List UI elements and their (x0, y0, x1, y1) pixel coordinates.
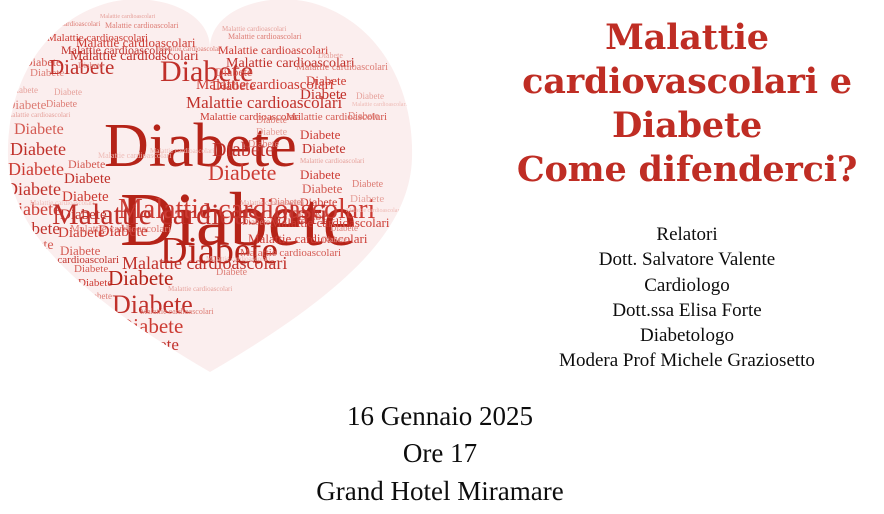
wordcloud-word: Diabete (74, 264, 108, 275)
wordcloud-word: Malattie cardioascolari (186, 94, 342, 111)
wordcloud-word: Diabete (60, 244, 100, 257)
wordcloud-word: Diabete (350, 194, 384, 205)
wordcloud-word: Malattie cardioascolari (196, 78, 334, 93)
wordcloud-word: Malattie cardioascolari (105, 22, 179, 30)
wordcloud-word: Diabete (78, 62, 103, 70)
wordcloud-word: Diabete (256, 116, 287, 126)
event-poster: DiabeteDiabeteMalattie cardioascolariMal… (0, 0, 884, 514)
poster-title: Malattie cardiovascolari e Diabete Come … (490, 16, 884, 192)
title-line-3: Diabete (490, 104, 884, 148)
wordcloud-word: Diabete (302, 143, 346, 157)
speaker-role-1: Cardiologo (490, 273, 884, 298)
event-details: 16 Gennaio 2025 Ore 17 Grand Hotel Miram… (160, 398, 720, 510)
wordcloud-word: Diabete (300, 128, 340, 141)
title-line-2: cardiovascolari e (490, 60, 884, 104)
wordcloud-word: Diabete (330, 224, 358, 233)
wordcloud-word: Malattie cardioascolari (346, 208, 401, 214)
event-venue: Grand Hotel Miramare (160, 473, 720, 510)
event-time: Ore 17 (160, 435, 720, 472)
wordcloud-word: Diabete (64, 172, 111, 187)
wordcloud-word: Diabete (242, 218, 270, 227)
wordcloud-word: Diabete (212, 140, 274, 160)
speaker-name-1: Dott. Salvatore Valente (490, 247, 884, 272)
title-line-1: Malattie (490, 16, 884, 60)
wordcloud-word: Malattie cardioascolari (100, 14, 155, 20)
wordcloud-word: Diabete (14, 122, 64, 138)
speaker-name-2: Dott.ssa Elisa Forte (490, 298, 884, 323)
wordcloud-word: Malattie cardioascolari (6, 112, 70, 119)
speakers-list: Relatori Dott. Salvatore Valente Cardiol… (490, 222, 884, 374)
wordcloud-word: Diabete (108, 268, 173, 289)
title-line-4: Come difenderci? (490, 148, 884, 192)
wordcloud-word: Diabete (98, 224, 148, 240)
wordcloud-word: Diabete (318, 52, 343, 60)
wordcloud-word: Diabete (322, 236, 347, 244)
wordcloud-word: Diabete (54, 88, 82, 97)
wordcloud-word: Diabete (348, 112, 379, 122)
wordcloud-word: Malattie cardioascolari (248, 232, 367, 245)
wordcloud-word: Diabete (216, 268, 247, 278)
wordcloud-word: Malattie cardioascolari (158, 46, 222, 53)
wordcloud-word: Diabete (356, 92, 384, 101)
wordcloud-word: Malattie cardioascolari (228, 33, 302, 41)
speakers-heading: Relatori (490, 222, 884, 247)
wordcloud-word: Malattie cardioascolari (352, 102, 407, 108)
wordcloud-word: Malattie cardioascolari (218, 44, 328, 56)
wordcloud-word: Malattie cardioascolari (206, 256, 270, 263)
wordcloud-word: Malattie cardioascolari (168, 286, 232, 293)
wordcloud-word: Diabete (256, 128, 287, 138)
event-date: 16 Gennaio 2025 (160, 398, 720, 435)
wordcloud-word: Diabete (208, 162, 276, 184)
moderator-line: Modera Prof Michele Graziosetto (490, 348, 884, 373)
wordcloud-word: Diabete (10, 140, 66, 158)
speaker-role-2: Diabetologo (490, 323, 884, 348)
wordcloud-word: Malattie cardioascolari (240, 200, 304, 207)
wordcloud-word: Malattie cardioascolari (150, 148, 214, 155)
wordcloud-word: Diabete (8, 160, 64, 178)
wordcloud-word: Malattie cardioascolari (296, 63, 388, 73)
wordcloud-word: Diabete (46, 100, 77, 110)
wordcloud-word: Malattie cardioascolari (300, 158, 364, 165)
wordcloud-heart-image: DiabeteDiabeteMalattie cardioascolariMal… (0, 0, 420, 375)
wordcloud-word: Diabete (352, 180, 383, 190)
